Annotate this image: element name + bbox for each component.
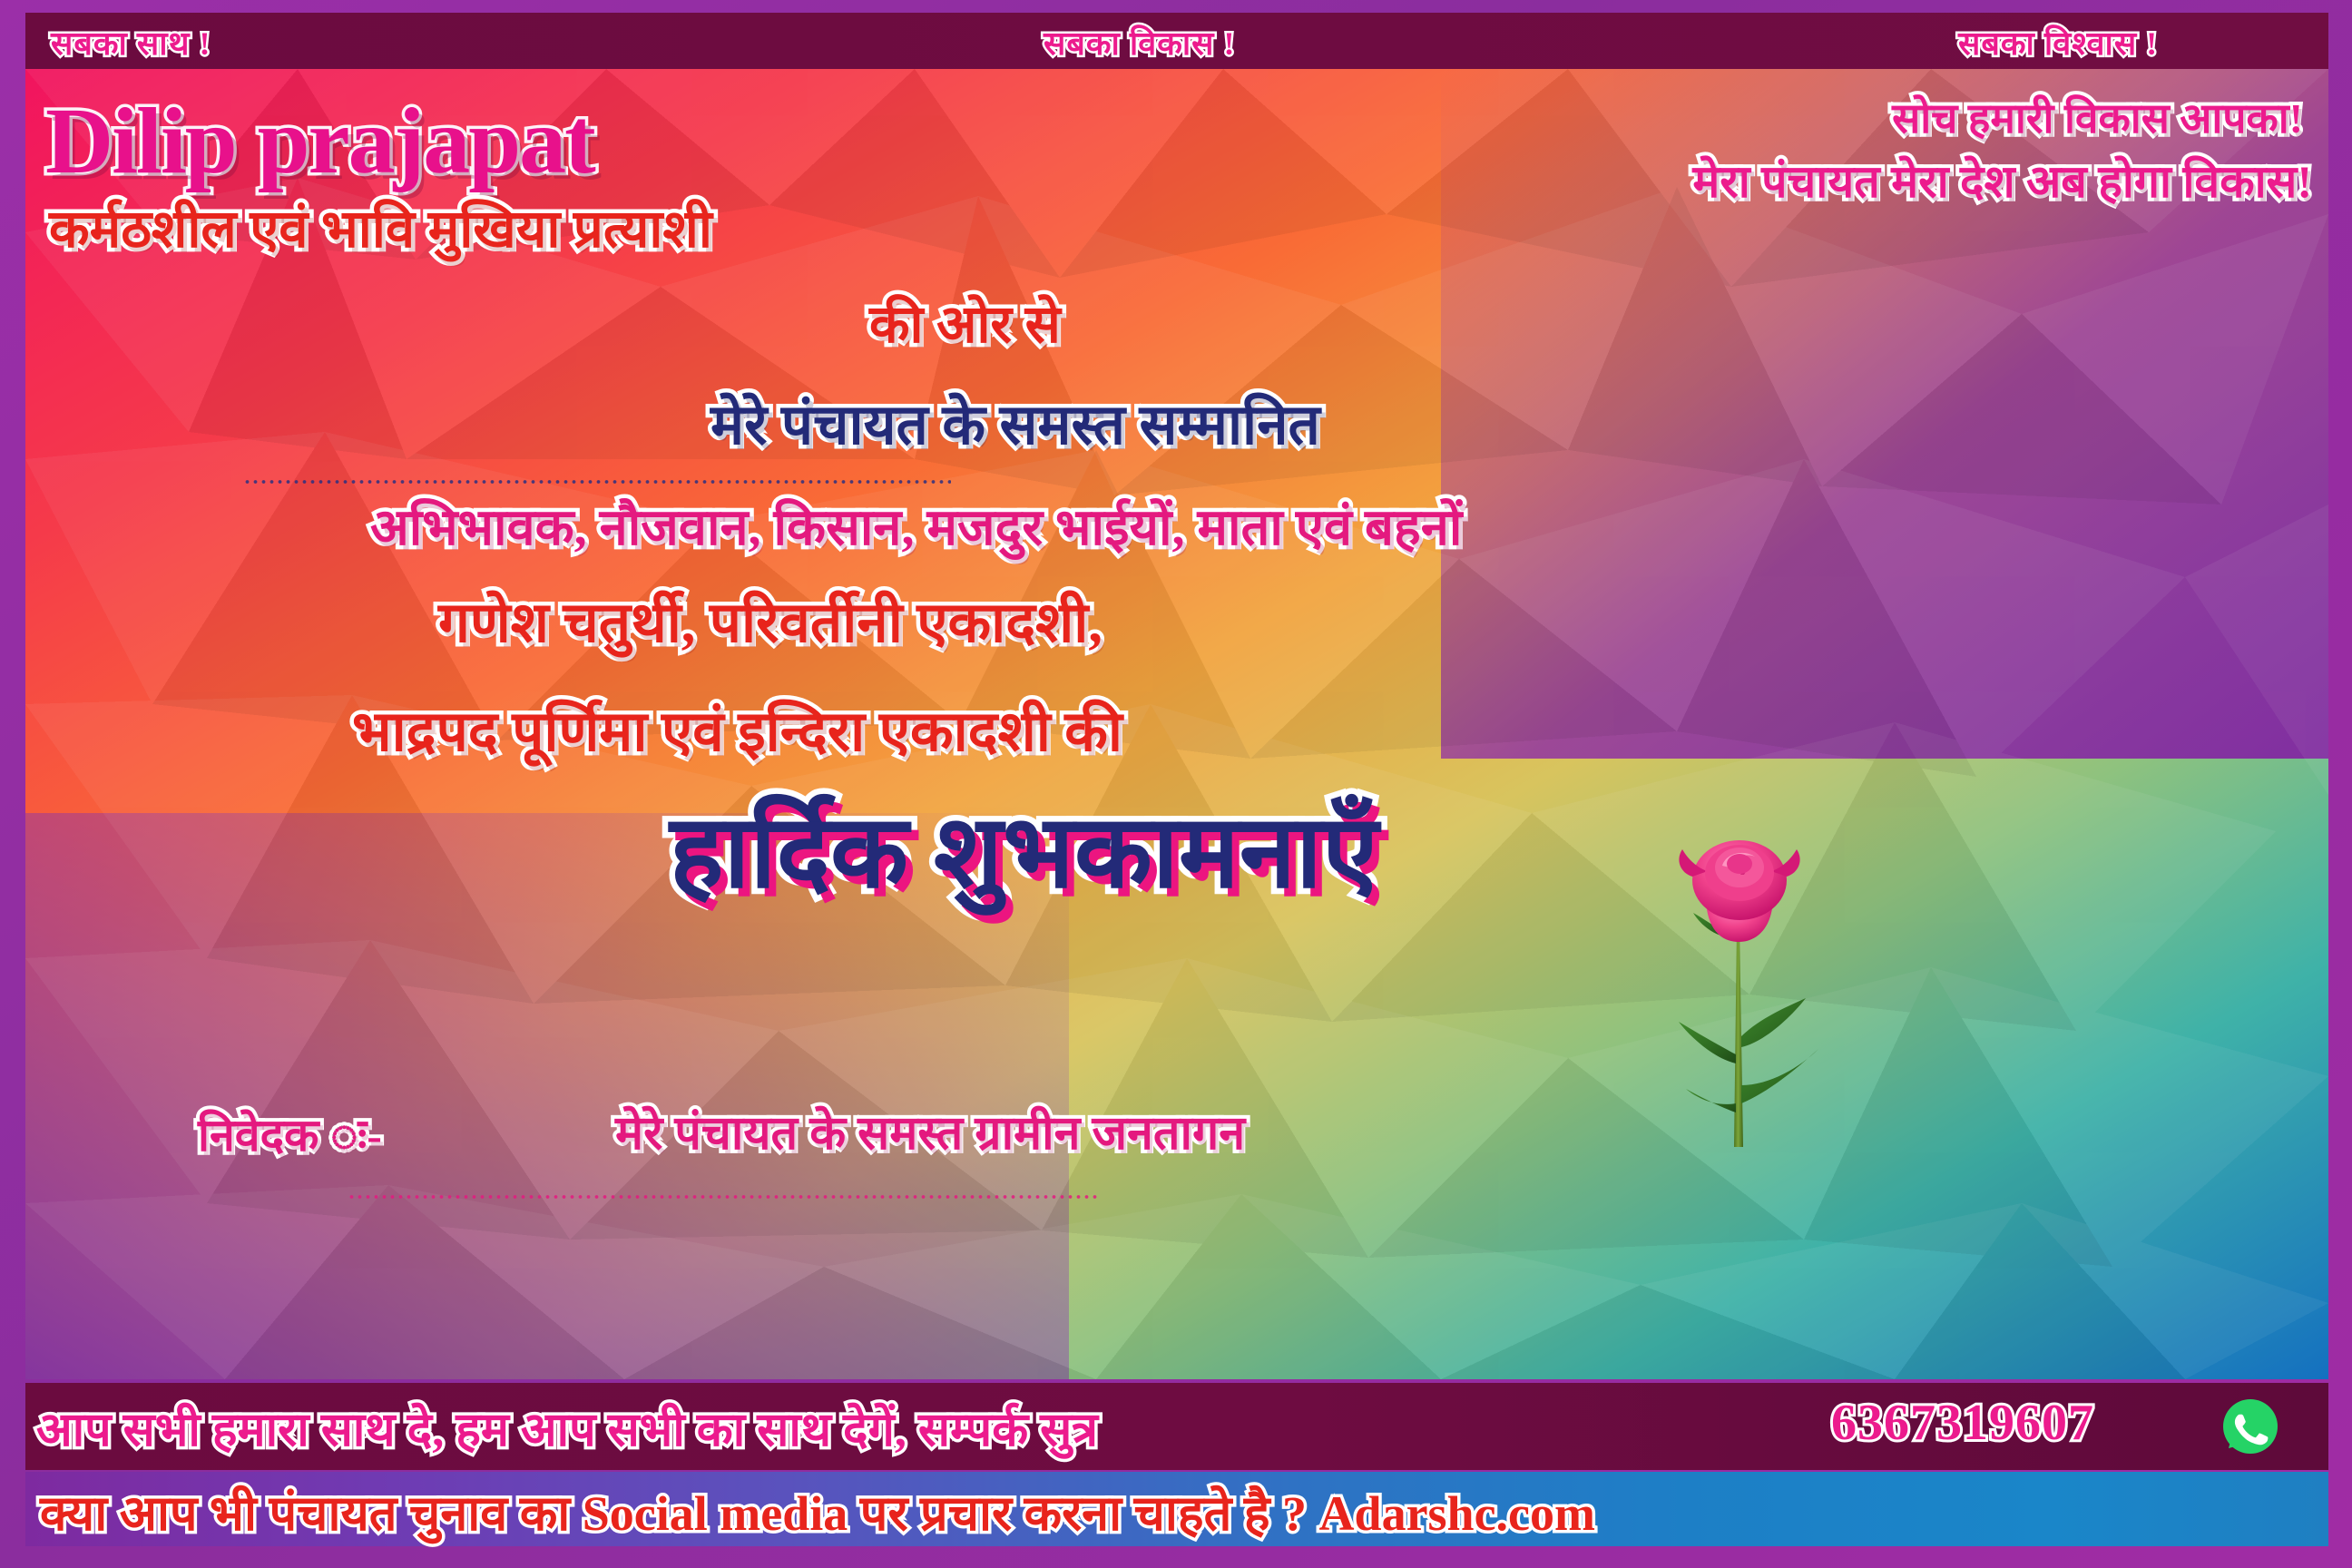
rose-flower-icon	[1650, 820, 1831, 1201]
footer-support-text: आप सभी हमारा साथ दे, हम आप सभी का साथ दे…	[36, 1396, 1098, 1460]
top-right-slogan-1: सोच हमारी विकास आपका!	[1892, 89, 2303, 145]
greeting-poster: सबका साथ ! सबका विकास ! सबका विश्वास ! D…	[0, 0, 2352, 1568]
footer-promo-band: क्या आप भी पंचायत चुनाव का Social media …	[25, 1472, 2328, 1546]
addressee-line-1: मेरे पंचायत के समस्त सम्मानित	[710, 397, 1320, 454]
festival-line-1: गणेश चतुर्थी, परिवर्तीनी एकादशी,	[438, 595, 1102, 652]
from-line: की ओर से	[869, 299, 1061, 351]
top-slogan-band: सबका साथ ! सबका विकास ! सबका विश्वास !	[25, 13, 2328, 69]
candidate-name: Dilip prajapat	[45, 94, 594, 189]
footer-contact-band: आप सभी हमारा साथ दे, हम आप सभी का साथ दे…	[25, 1383, 2328, 1470]
slogan-sabka-saath: सबका साथ !	[51, 20, 211, 64]
slogan-sabka-vikas: सबका विकास !	[1044, 20, 1236, 64]
candidate-role-line: कर्मठशील एवं भावि मुखिया प्रत्याशी	[49, 203, 712, 256]
dotted-divider-bottom	[348, 1194, 1101, 1200]
footer-promo-text[interactable]: क्या आप भी पंचायत चुनाव का Social media …	[40, 1477, 1595, 1544]
greeting-headline: हार्दिक शुभकामनाएँ	[670, 802, 1378, 904]
whatsapp-icon[interactable]	[2221, 1397, 2279, 1455]
top-right-slogan-2: मेरा पंचायत मेरा देश अब होगा विकास!	[1692, 149, 2312, 211]
addressee-line-2: अभिभावक, नौजवान, किसान, मजदुर भाईयों, मा…	[370, 503, 1462, 554]
poster-content: Dilip prajapat सोच हमारी विकास आपका! मेर…	[25, 69, 2328, 1379]
contact-phone-number[interactable]: 6367319607	[1831, 1394, 2094, 1452]
slogan-sabka-vishwas: सबका विश्वास !	[1958, 20, 2158, 64]
sender-label: निवेदक ः-	[198, 1112, 382, 1158]
sender-value: मेरे पंचायत के समस्त ग्रामीन जनतागन	[615, 1111, 1245, 1158]
dotted-divider-top	[243, 479, 951, 485]
festival-line-2: भाद्रपद पूर्णिमा एवं इन्दिरा एकादशी की	[352, 704, 1122, 760]
